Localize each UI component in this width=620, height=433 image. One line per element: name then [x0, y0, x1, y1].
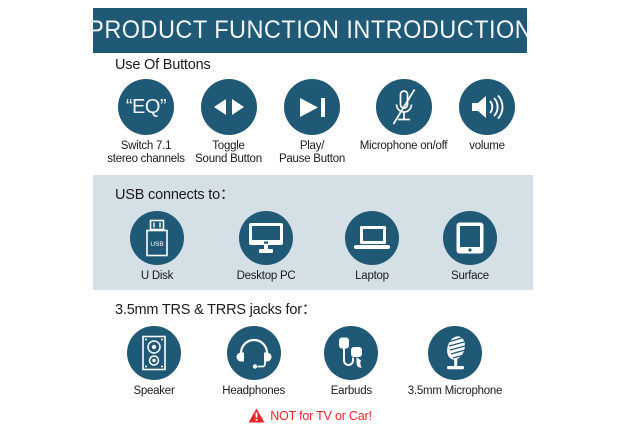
studio-microphone-circle [428, 326, 482, 380]
desktop-pc-icon [247, 221, 285, 255]
item-volume: volume [455, 79, 519, 153]
item-label: Headphones [222, 385, 285, 398]
tablet-surface-circle [443, 211, 497, 265]
section-trs-trrs-jacks: 3.5mm TRS & TRRS jacks for： [93, 298, 533, 398]
section-title-usb-connects-to: USB connects to： [93, 183, 533, 204]
item-u-disk: USB U Disk [121, 211, 193, 283]
play-pause-circle [284, 79, 340, 135]
item-laptop: Laptop [339, 211, 405, 283]
footer-warning: NOT for TV or Car! [0, 408, 620, 423]
section-usb-connects-to: USB connects to： USB U Disk [93, 175, 533, 290]
item-earbuds: Earbuds [318, 326, 384, 398]
jack-icon-row: Speaker Headphones [93, 326, 533, 398]
eq-button-circle: “EQ” [118, 79, 174, 135]
item-label: 3.5mm Microphone [408, 385, 502, 398]
item-headphones: Headphones [208, 326, 300, 398]
item-label: volume [469, 140, 505, 153]
item-switch-stereo: “EQ” Switch 7.1 stereo channels [107, 79, 185, 165]
section-use-of-buttons: Use Of Buttons “EQ” Switch 7.1 stereo ch… [93, 57, 533, 165]
warning-text: NOT for TV or Car! [270, 409, 372, 423]
volume-icon [469, 94, 505, 120]
headphones-circle [227, 326, 281, 380]
item-speaker: Speaker [119, 326, 189, 398]
item-surface: Surface [435, 211, 505, 283]
usb-icon-row: USB U Disk Desktop PC [93, 211, 533, 283]
u-disk-circle: USB [130, 211, 184, 265]
product-function-introduction-graphic: PRODUCT FUNCTION INTRODUCTION Use Of But… [0, 0, 620, 433]
desktop-pc-circle [239, 211, 293, 265]
microphone-mute-icon [389, 88, 419, 126]
usb-label-text: USB [150, 241, 163, 248]
item-microphone-on-off: Microphone on/off [356, 79, 452, 153]
header-banner: PRODUCT FUNCTION INTRODUCTION [93, 8, 527, 53]
page-title: PRODUCT FUNCTION INTRODUCTION [88, 16, 532, 45]
headphones-icon [236, 337, 272, 369]
section-title-use-of-buttons: Use Of Buttons [93, 57, 533, 73]
usb-flash-drive-icon: USB [144, 219, 170, 257]
microphone-mute-circle [376, 79, 432, 135]
earbuds-icon [335, 336, 367, 370]
item-label: Desktop PC [237, 270, 296, 283]
laptop-icon [353, 224, 391, 252]
laptop-circle [345, 211, 399, 265]
button-icon-row: “EQ” Switch 7.1 stereo channels Toggle S… [93, 79, 533, 165]
item-label: Microphone on/off [360, 140, 448, 153]
item-label: Speaker [133, 385, 174, 398]
item-desktop-pc: Desktop PC [223, 211, 309, 283]
section-title-trs-trrs-jacks: 3.5mm TRS & TRRS jacks for： [93, 298, 533, 319]
volume-circle [459, 79, 515, 135]
item-35mm-microphone: 3.5mm Microphone [403, 326, 507, 398]
tablet-surface-icon [455, 221, 485, 255]
toggle-sound-icon [212, 97, 246, 117]
studio-microphone-icon [439, 335, 471, 371]
toggle-sound-circle [201, 79, 257, 135]
speaker-circle [127, 326, 181, 380]
item-label: Play/ Pause Button [279, 140, 345, 165]
item-label: Laptop [355, 270, 389, 283]
item-label: Surface [451, 270, 489, 283]
eq-text-icon: “EQ” [126, 96, 166, 119]
speaker-icon [141, 335, 167, 371]
play-pause-icon [296, 97, 328, 118]
item-toggle-sound: Toggle Sound Button [189, 79, 269, 165]
item-label: Switch 7.1 stereo channels [107, 140, 184, 165]
earbuds-circle [324, 326, 378, 380]
warning-triangle-icon [248, 408, 265, 423]
item-play-pause: Play/ Pause Button [272, 79, 352, 165]
item-label: Earbuds [331, 385, 372, 398]
item-label: U Disk [141, 270, 173, 283]
item-label: Toggle Sound Button [195, 140, 262, 165]
